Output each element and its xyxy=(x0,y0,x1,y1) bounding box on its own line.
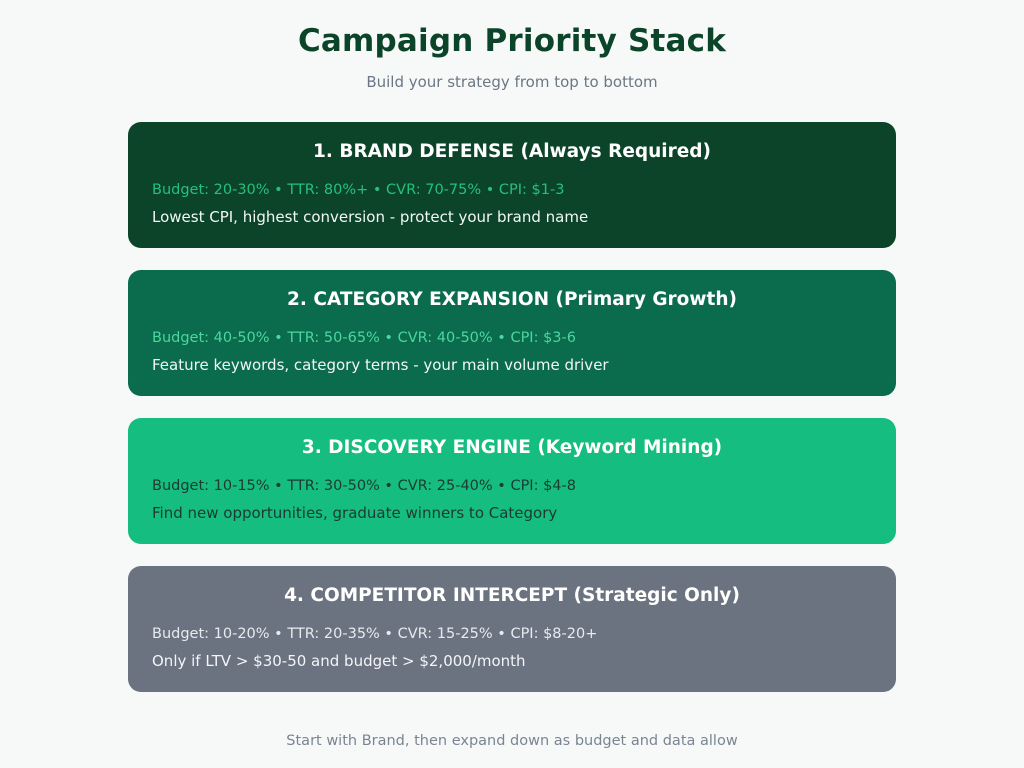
priority-card-description: Find new opportunities, graduate winners… xyxy=(152,501,872,526)
priority-stack-list: 1. BRAND DEFENSE (Always Required) Budge… xyxy=(0,122,1024,692)
priority-card-category-expansion[interactable]: 2. CATEGORY EXPANSION (Primary Growth) B… xyxy=(128,270,896,396)
page-subtitle: Build your strategy from top to bottom xyxy=(0,62,1024,92)
page-title: Campaign Priority Stack xyxy=(0,20,1024,62)
priority-card-title: 1. BRAND DEFENSE (Always Required) xyxy=(152,138,872,166)
priority-card-metrics: Budget: 10-15% • TTR: 30-50% • CVR: 25-4… xyxy=(152,474,872,498)
priority-card-title: 4. COMPETITOR INTERCEPT (Strategic Only) xyxy=(152,582,872,610)
priority-card-title: 3. DISCOVERY ENGINE (Keyword Mining) xyxy=(152,434,872,462)
priority-card-metrics: Budget: 20-30% • TTR: 80%+ • CVR: 70-75%… xyxy=(152,178,872,202)
priority-card-description: Lowest CPI, highest conversion - protect… xyxy=(152,205,872,230)
footer-note: Start with Brand, then expand down as bu… xyxy=(0,714,1024,751)
page-header: Campaign Priority Stack Build your strat… xyxy=(0,0,1024,92)
campaign-priority-stack-page: Campaign Priority Stack Build your strat… xyxy=(0,0,1024,768)
priority-card-description: Feature keywords, category terms - your … xyxy=(152,353,872,378)
priority-card-description: Only if LTV > $30-50 and budget > $2,000… xyxy=(152,649,872,674)
priority-card-brand-defense[interactable]: 1. BRAND DEFENSE (Always Required) Budge… xyxy=(128,122,896,248)
priority-card-title: 2. CATEGORY EXPANSION (Primary Growth) xyxy=(152,286,872,314)
priority-card-metrics: Budget: 40-50% • TTR: 50-65% • CVR: 40-5… xyxy=(152,326,872,350)
priority-card-discovery-engine[interactable]: 3. DISCOVERY ENGINE (Keyword Mining) Bud… xyxy=(128,418,896,544)
priority-card-competitor-intercept[interactable]: 4. COMPETITOR INTERCEPT (Strategic Only)… xyxy=(128,566,896,692)
priority-card-metrics: Budget: 10-20% • TTR: 20-35% • CVR: 15-2… xyxy=(152,622,872,646)
